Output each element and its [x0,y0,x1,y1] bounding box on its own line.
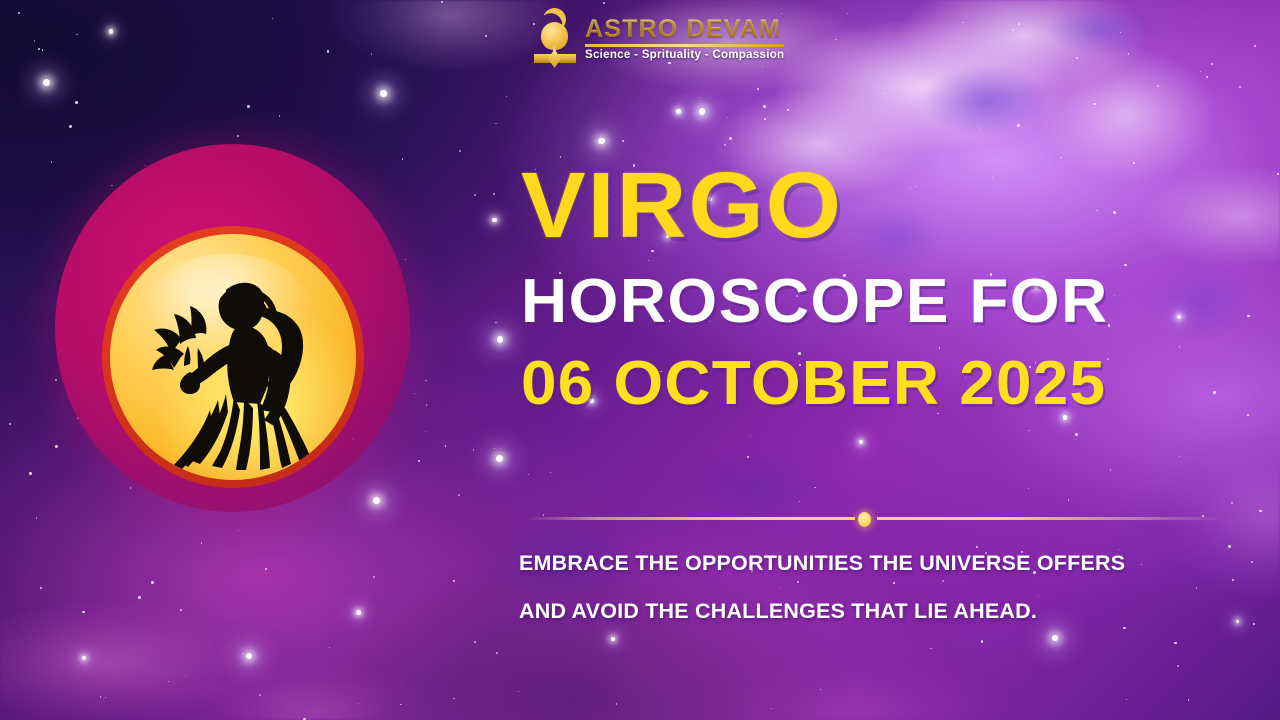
brand-logo[interactable]: ASTRO DEVAM Science - Sprituality - Comp… [534,8,784,70]
tagline-block: EMBRACE THE OPPORTUNITIES THE UNIVERSE O… [519,553,1265,622]
crescent-sphere-icon [534,8,576,70]
zodiac-disc [110,234,356,480]
headline-subtitle: HOROSCOPE FOR [521,271,1263,333]
headline-date: 06 OCTOBER 2025 [521,353,1263,415]
brand-logo-text: ASTRO DEVAM Science - Sprituality - Comp… [585,17,784,62]
zodiac-ring [102,226,364,488]
brand-name: ASTRO DEVAM [585,17,784,43]
virgo-maiden-icon [110,234,356,480]
ornamental-divider [525,510,1225,528]
zodiac-emblem [55,144,410,512]
divider-dot-icon [858,512,871,527]
brand-rule [585,44,784,47]
divider-line-right [877,517,1225,520]
tagline-line-1: EMBRACE THE OPPORTUNITIES THE UNIVERSE O… [519,553,1265,575]
banner-canvas: ASTRO DEVAM Science - Sprituality - Comp… [0,0,1280,720]
page-title: VIRGO [521,160,1270,251]
brand-tagline: Science - Sprituality - Compassion [585,49,784,61]
divider-line-left [525,517,855,520]
headline-block: VIRGO HOROSCOPE FOR 06 OCTOBER 2025 [521,160,1241,415]
tagline-line-2: AND AVOID THE CHALLENGES THAT LIE AHEAD. [519,601,1265,623]
